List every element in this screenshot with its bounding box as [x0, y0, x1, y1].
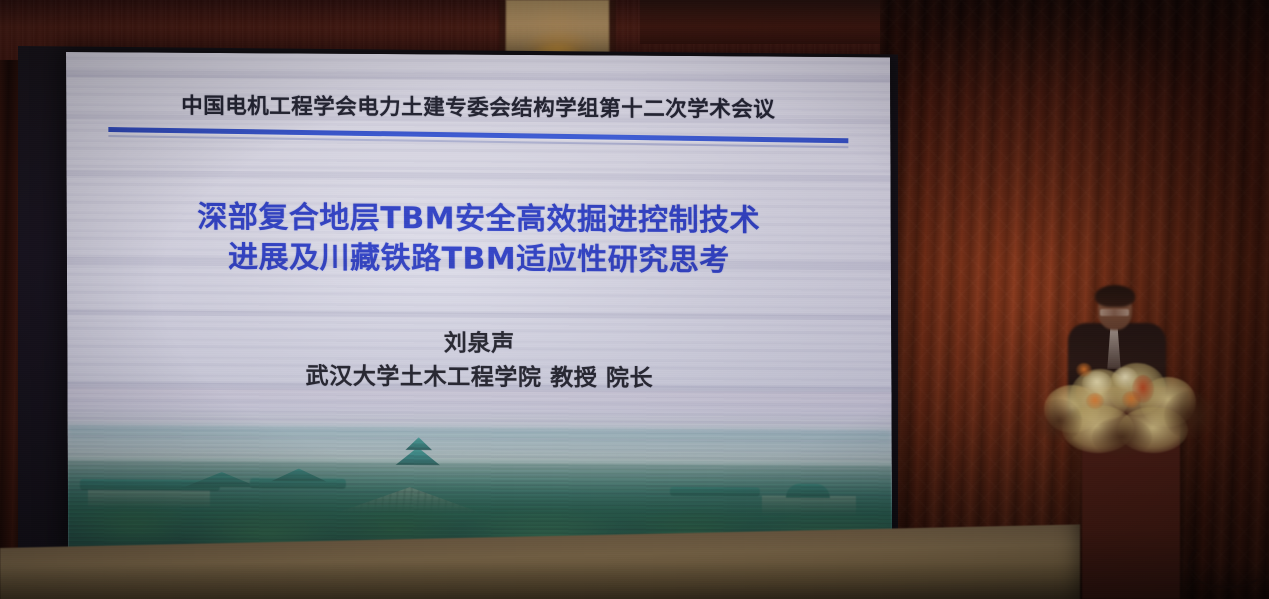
- speaker-area: [1040, 275, 1269, 599]
- projector-band-5: [67, 310, 891, 320]
- conference-photo-scene: 中国电机工程学会电力土建专委会结构学组第十二次学术会议 深部复合地层TBM安全高…: [0, 0, 1269, 599]
- flower-orange-3: [1076, 363, 1092, 377]
- projection-screen: 中国电机工程学会电力土建专委会结构学组第十二次学术会议 深部复合地层TBM安全高…: [66, 52, 892, 557]
- slide-header-text: 中国电机工程学会电力土建专委会结构学组第十二次学术会议: [181, 89, 775, 124]
- speaker-glasses: [1100, 309, 1129, 316]
- projector-band-3: [67, 170, 891, 181]
- projector-band-1: [66, 70, 890, 82]
- floral-arrangement: [1036, 347, 1226, 462]
- microphone-cable: [1188, 540, 1266, 588]
- slide-header: 中国电机工程学会电力土建专委会结构学组第十二次学术会议: [66, 88, 890, 124]
- flower-foliage-3: [1092, 417, 1152, 457]
- speaker-hair: [1095, 285, 1135, 307]
- presenter-name: 刘泉声: [67, 324, 891, 363]
- flower-foliage-1: [1036, 399, 1082, 443]
- slide-title-line-1: 深部复合地层TBM安全高效掘进控制技术: [67, 197, 891, 242]
- presentation-slide: 中国电机工程学会电力土建专委会结构学组第十二次学术会议 深部复合地层TBM安全高…: [66, 52, 892, 557]
- flower-red-1: [1132, 375, 1154, 403]
- slide-title-line-2: 进展及川藏铁路TBM适应性研究思考: [67, 237, 891, 282]
- slide-title: 深部复合地层TBM安全高效掘进控制技术 进展及川藏铁路TBM适应性研究思考: [67, 197, 891, 282]
- flower-foliage-2: [1164, 391, 1216, 439]
- flower-orange-1: [1086, 393, 1104, 409]
